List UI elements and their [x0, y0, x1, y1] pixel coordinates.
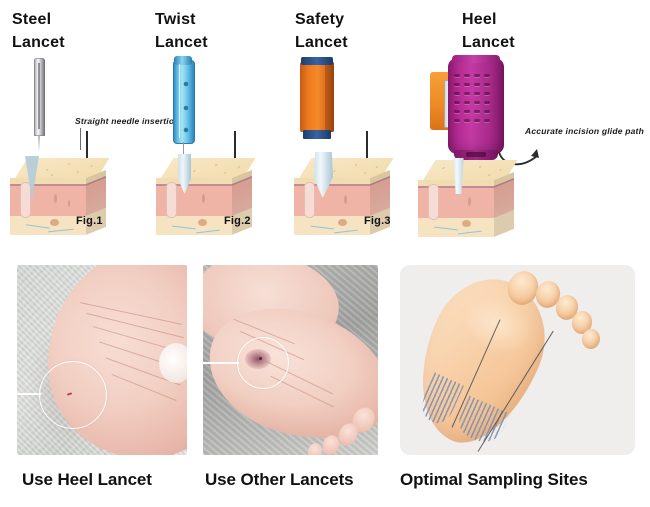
highlight-leader-1 [17, 393, 41, 395]
column-title-line1: Steel [12, 8, 162, 31]
infographic-canvas: Steel Lancet Straight needle insertion [0, 0, 650, 507]
fig-label-1: Fig.1 [76, 215, 103, 227]
highlight-circle-1 [39, 361, 107, 429]
column-title-line2: Lancet [295, 31, 445, 54]
annotation-accurate-incision-glide-path: Accurate incision glide path [525, 126, 644, 136]
highlight-circle-2 [237, 337, 289, 389]
caption-use-heel-lancet: Use Heel Lancet [22, 470, 152, 490]
column-title-line2: Lancet [462, 31, 612, 54]
column-title-twist: Twist Lancet [155, 8, 305, 54]
caption-optimal-sampling-sites: Optimal Sampling Sites [400, 470, 588, 490]
highlight-leader-2 [203, 362, 239, 364]
photo-panel-use-heel-lancet [17, 265, 187, 455]
column-title-line2: Lancet [155, 31, 305, 54]
column-title-line1: Twist [155, 8, 305, 31]
fig-label-2: Fig.2 [224, 215, 251, 227]
column-title-heel: Heel Lancet [462, 8, 612, 54]
skin-cross-section-4 [418, 160, 522, 238]
photo-panel-use-other-lancets [203, 265, 378, 455]
column-title-steel: Steel Lancet [12, 8, 162, 54]
column-title-safety: Safety Lancet [295, 8, 445, 54]
heel-lancet-grip-texture [454, 74, 498, 130]
caption-use-other-lancets: Use Other Lancets [205, 470, 354, 490]
diagram-panel-optimal-sampling-sites [400, 265, 635, 455]
column-title-line2: Lancet [12, 31, 162, 54]
lancet-blade-1 [25, 156, 39, 200]
fig-label-3: Fig.3 [364, 215, 391, 227]
column-title-line1: Heel [462, 8, 612, 31]
column-title-line1: Safety [295, 8, 445, 31]
